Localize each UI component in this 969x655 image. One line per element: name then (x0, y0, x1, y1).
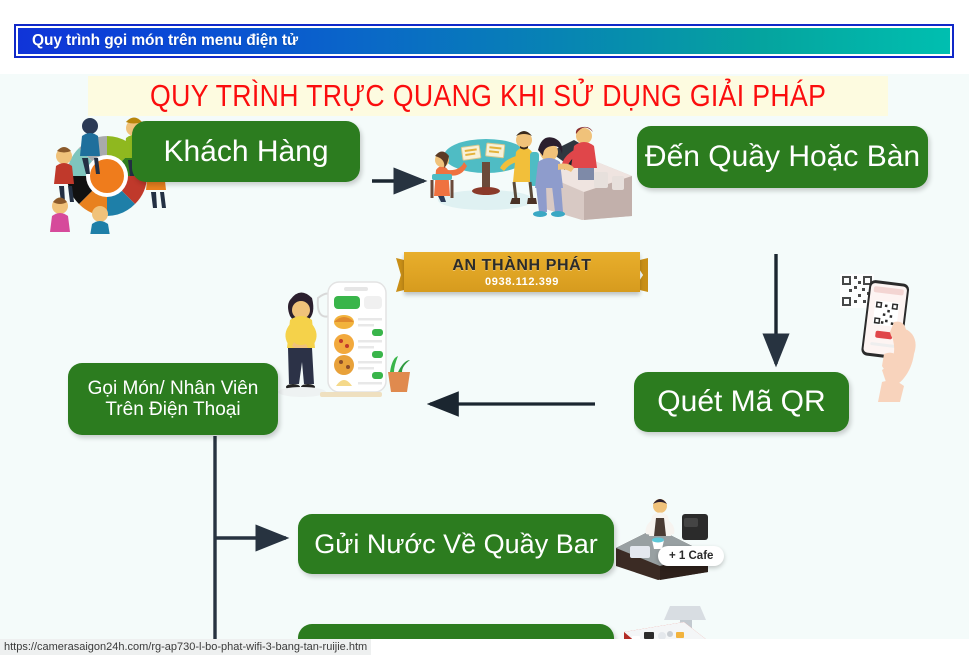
title-bar-gradient: Quy trình gọi món trên menu điện tử (18, 28, 950, 54)
bar-counter-illustration (612, 496, 722, 582)
slide-canvas: QUY TRÌNH TRỰC QUANG KHI SỬ DỤNG GIẢI PH… (0, 64, 969, 639)
flow-box-quet-ma-qr[interactable]: Quét Mã QR (634, 372, 849, 432)
qr-scan-illustration (838, 270, 930, 405)
flow-box-gui-nuoc[interactable]: Gửi Nước Về Quầy Bar (298, 514, 614, 574)
restaurant-counter-illustration (424, 112, 649, 222)
flow-box-goi-mon-label-line2: Trên Điện Thoại (88, 399, 259, 420)
flow-box-khach-hang-label: Khách Hàng (163, 135, 328, 169)
page-title: QUY TRÌNH TRỰC QUANG KHI SỬ DỤNG GIẢI PH… (150, 78, 826, 114)
mobile-ordering-illustration (268, 268, 410, 408)
badge-cafe-label: + 1 Cafe (669, 550, 713, 562)
brand-ribbon: AN THÀNH PHÁT 0938.112.399 (396, 252, 648, 296)
flow-box-den-quay[interactable]: Đến Quầy Hoặc Bàn (637, 126, 928, 188)
flow-box-goi-mon-label-line1: Gọi Món/ Nhân Viên (88, 378, 259, 399)
badge-cafe: + 1 Cafe (658, 546, 724, 566)
ribbon-body: AN THÀNH PHÁT 0938.112.399 (404, 252, 640, 292)
window-title-bar: Quy trình gọi món trên menu điện tử (14, 24, 954, 58)
flow-box-quet-ma-qr-label: Quét Mã QR (657, 385, 825, 419)
window-title: Quy trình gọi món trên menu điện tử (18, 32, 298, 50)
flow-box-den-quay-label: Đến Quầy Hoặc Bàn (645, 140, 920, 174)
flow-box-khach-hang[interactable]: Khách Hàng (132, 121, 360, 182)
brand-company-name: AN THÀNH PHÁT (452, 257, 591, 275)
slide-viewer: Quy trình gọi món trên menu điện tử QUY … (0, 0, 969, 655)
flow-box-gui-nuoc-label: Gửi Nước Về Quầy Bar (314, 529, 597, 559)
flow-box-goi-mon[interactable]: Gọi Món/ Nhân Viên Trên Điện Thoại (68, 363, 278, 435)
status-bar-url: https://camerasaigon24h.com/rg-ap730-l-b… (0, 639, 371, 655)
brand-phone-number: 0938.112.399 (485, 276, 559, 288)
slide-heading-band: QUY TRÌNH TRỰC QUANG KHI SỬ DỤNG GIẢI PH… (88, 76, 888, 116)
